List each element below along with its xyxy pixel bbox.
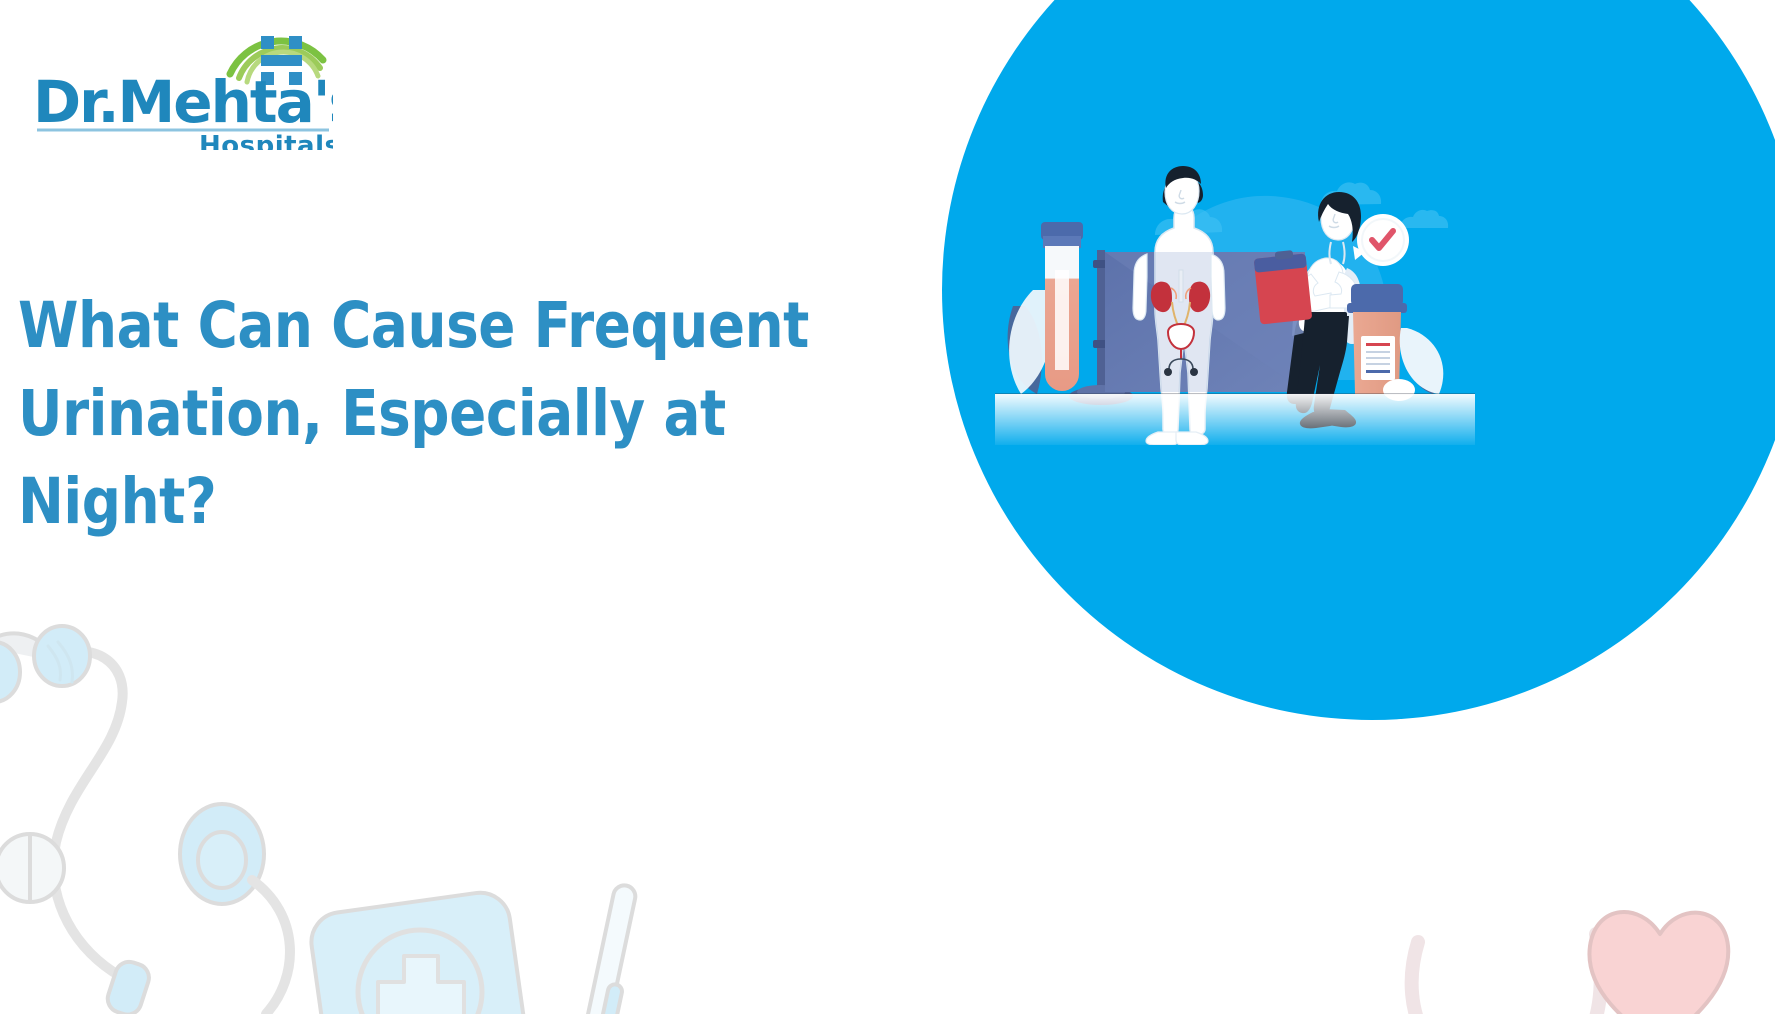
page-title-line-2: Urination, Especially at — [18, 370, 740, 458]
stethoscope-head-doodle — [180, 804, 290, 1014]
heart-doodle — [1589, 912, 1728, 1014]
banner-canvas: Dr.Mehta's Hospitals Dr.Mehta's Hospital… — [0, 0, 1775, 1014]
bladder — [1168, 324, 1194, 349]
urine-test-tube — [1041, 222, 1083, 391]
thermometer-doodle — [585, 883, 638, 1014]
urology-consultation-illustration — [995, 140, 1495, 445]
first-aid-kit-doodle — [308, 889, 530, 1014]
clipboard — [1254, 250, 1313, 324]
stethoscope-doodle — [0, 626, 153, 1014]
brand-logo[interactable]: Dr.Mehta's Hospitals Dr.Mehta's Hospital… — [33, 22, 333, 150]
page-title-line-3: Night? — [18, 458, 740, 546]
pill-doodle — [0, 834, 64, 902]
logo-subtext: Hospitals — [199, 131, 333, 150]
logo-wordmark: Dr.Mehta's — [33, 68, 333, 136]
page-title: What Can Cause Frequent Urination, Espec… — [18, 282, 740, 546]
urine-sample-cup — [1347, 284, 1407, 394]
reflective-floor — [995, 394, 1475, 445]
stethoscope-loop-doodle — [1412, 934, 1601, 1014]
page-title-line-1: What Can Cause Frequent — [18, 282, 740, 370]
